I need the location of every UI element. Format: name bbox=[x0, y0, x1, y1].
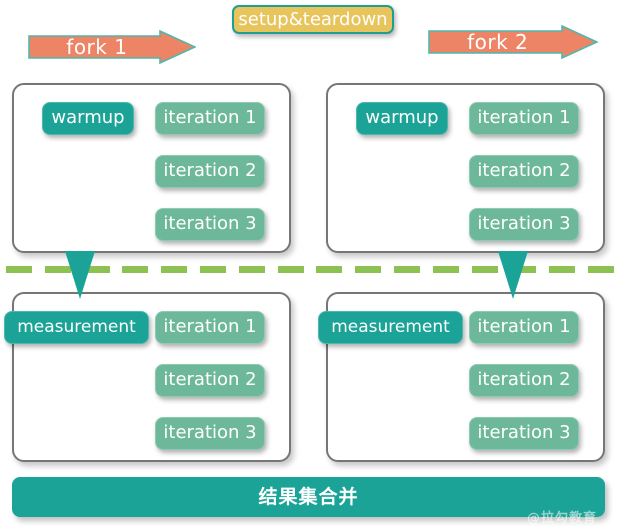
iteration-chip: iteration 3 bbox=[469, 417, 579, 450]
diagram-canvas: fork 1 setup&teardown fork 2 warmup iter… bbox=[0, 0, 619, 532]
iteration-chip: iteration 2 bbox=[155, 155, 265, 188]
result-merge-bar: 结果集合并 @拉勾教育 bbox=[12, 477, 605, 517]
iteration-chip: iteration 3 bbox=[155, 417, 265, 450]
divider-dash bbox=[472, 266, 498, 273]
iteration-chip: iteration 2 bbox=[155, 364, 265, 397]
divider-dash bbox=[200, 266, 226, 273]
divider-dash bbox=[588, 266, 614, 273]
fork-1-label: fork 1 bbox=[28, 30, 166, 64]
fork-2-label: fork 2 bbox=[428, 25, 567, 59]
triangle-down-icon bbox=[63, 251, 97, 299]
iteration-chip: iteration 1 bbox=[155, 102, 265, 135]
divider-dash bbox=[239, 266, 265, 273]
phase-chip-warmup: warmup bbox=[42, 102, 134, 135]
result-merge-label: 结果集合并 bbox=[12, 477, 605, 517]
iteration-chip: iteration 1 bbox=[469, 102, 579, 135]
watermark: @拉勾教育 bbox=[527, 507, 597, 526]
fork-2-arrow: fork 2 bbox=[428, 25, 598, 59]
phase-chip-warmup: warmup bbox=[356, 102, 448, 135]
divider-dash bbox=[316, 266, 342, 273]
divider-dash bbox=[278, 266, 304, 273]
iteration-chip: iteration 2 bbox=[469, 155, 579, 188]
divider-dash bbox=[355, 266, 381, 273]
divider-dash bbox=[433, 266, 459, 273]
setup-teardown-box: setup&teardown bbox=[232, 5, 394, 34]
panel-fork1-warmup: warmup iteration 1 iteration 2 iteration… bbox=[12, 83, 291, 253]
iteration-chip: iteration 1 bbox=[155, 311, 265, 344]
divider-dash bbox=[161, 266, 187, 273]
fork1-down-arrow-icon bbox=[63, 251, 97, 299]
triangle-down-icon bbox=[496, 251, 530, 299]
divider-dash bbox=[394, 266, 420, 273]
panel-fork1-measurement: measurement iteration 1 iteration 2 iter… bbox=[12, 292, 291, 462]
divider-dash bbox=[122, 266, 148, 273]
phase-chip-measurement: measurement bbox=[318, 311, 463, 344]
iteration-chip: iteration 3 bbox=[155, 208, 265, 241]
fork2-down-arrow-icon bbox=[496, 251, 530, 299]
panel-fork2-warmup: warmup iteration 1 iteration 2 iteration… bbox=[326, 83, 605, 253]
panel-fork2-measurement: measurement iteration 1 iteration 2 iter… bbox=[326, 292, 605, 462]
phase-chip-measurement: measurement bbox=[4, 311, 149, 344]
divider-dash bbox=[549, 266, 575, 273]
divider-dash bbox=[6, 266, 32, 273]
iteration-chip: iteration 1 bbox=[469, 311, 579, 344]
fork-1-arrow: fork 1 bbox=[28, 30, 196, 64]
iteration-chip: iteration 3 bbox=[469, 208, 579, 241]
iteration-chip: iteration 2 bbox=[469, 364, 579, 397]
